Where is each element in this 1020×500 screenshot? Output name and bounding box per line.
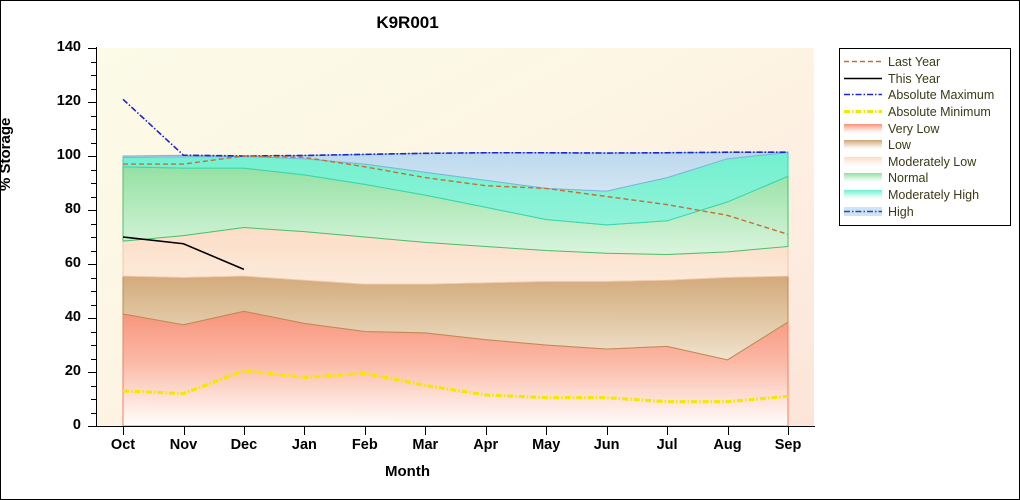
legend-item[interactable]: Low	[844, 137, 1006, 154]
x-tick	[607, 427, 608, 435]
legend-item[interactable]: High	[844, 203, 1006, 220]
y-tick-label: 80	[35, 201, 81, 217]
y-tick-label: 60	[35, 255, 81, 271]
chart-figure: K9R001	[0, 0, 1020, 500]
y-tick-label: 40	[35, 309, 81, 325]
y-tick-minor	[91, 183, 97, 184]
legend-label: Low	[888, 138, 911, 152]
y-tick-minor	[91, 305, 97, 306]
y-tick-minor	[91, 386, 97, 387]
x-tick	[304, 427, 305, 435]
legend-item[interactable]: Moderately Low	[844, 154, 1006, 171]
page-title: K9R001	[1, 13, 814, 33]
y-tick-minor	[91, 197, 97, 198]
y-tick-minor	[91, 116, 97, 117]
legend-item[interactable]: Very Low	[844, 120, 1006, 137]
x-axis-line	[96, 426, 815, 427]
legend-label: This Year	[888, 72, 940, 86]
legend-label: Moderately Low	[888, 155, 976, 169]
x-tick	[546, 427, 547, 435]
x-axis-label: Month	[1, 463, 814, 480]
legend-label: Very Low	[888, 122, 939, 136]
band-layer	[123, 152, 788, 426]
legend-item[interactable]: Last Year	[844, 54, 1006, 71]
y-tick-label: 0	[35, 417, 81, 433]
legend-swatch-icon	[844, 189, 882, 201]
line-absolute-maximum	[123, 99, 788, 156]
y-tick-minor	[91, 129, 97, 130]
chart-legend: Last YearThis YearAbsolute MaximumAbsolu…	[839, 48, 1011, 226]
y-tick-major	[88, 372, 97, 373]
chart-svg	[97, 48, 814, 426]
y-tick-minor	[91, 89, 97, 90]
x-tick	[365, 427, 366, 435]
legend-swatch-icon	[844, 172, 882, 184]
y-tick-minor	[91, 399, 97, 400]
y-tick-label: 120	[35, 93, 81, 109]
y-tick-minor	[91, 251, 97, 252]
legend-swatch-icon	[844, 206, 882, 218]
x-tick-label: Dec	[231, 437, 258, 453]
x-tick-label: Jul	[657, 437, 678, 453]
legend-swatch-icon	[844, 139, 882, 151]
x-tick	[788, 427, 789, 435]
x-tick-label: Jun	[594, 437, 620, 453]
legend-swatch-icon	[844, 73, 882, 85]
y-tick-major	[88, 48, 97, 49]
x-tick	[486, 427, 487, 435]
legend-label: Normal	[888, 171, 928, 185]
y-tick-major	[88, 156, 97, 157]
x-tick	[728, 427, 729, 435]
y-tick-label: 140	[35, 39, 81, 55]
legend-label: Last Year	[888, 55, 940, 69]
legend-swatch-icon	[844, 123, 882, 135]
x-tick-label: Jan	[292, 437, 317, 453]
y-tick-minor	[91, 359, 97, 360]
legend-item[interactable]: Absolute Maximum	[844, 87, 1006, 104]
legend-item[interactable]: Normal	[844, 170, 1006, 187]
x-tick-label: Oct	[111, 437, 135, 453]
y-tick-major	[88, 102, 97, 103]
y-tick-minor	[91, 237, 97, 238]
legend-item[interactable]: This Year	[844, 71, 1006, 88]
legend-swatch-icon	[844, 89, 882, 101]
y-tick-minor	[91, 170, 97, 171]
plot-area	[97, 48, 814, 426]
y-tick-minor	[91, 332, 97, 333]
y-tick-major	[88, 210, 97, 211]
x-tick-label: Sep	[775, 437, 802, 453]
y-tick-label: 100	[35, 147, 81, 163]
legend-swatch-icon	[844, 56, 882, 68]
x-tick-label: Mar	[412, 437, 438, 453]
legend-swatch-icon	[844, 156, 882, 168]
y-tick-minor	[91, 291, 97, 292]
y-tick-minor	[91, 62, 97, 63]
x-tick	[244, 427, 245, 435]
legend-item[interactable]: Absolute Minimum	[844, 104, 1006, 121]
x-tick	[425, 427, 426, 435]
y-tick-major	[88, 264, 97, 265]
y-tick-minor	[91, 413, 97, 414]
legend-label: Absolute Maximum	[888, 88, 994, 102]
x-tick	[123, 427, 124, 435]
legend-label: High	[888, 205, 914, 219]
x-tick-label: Aug	[713, 437, 741, 453]
legend-label: Moderately High	[888, 188, 979, 202]
y-axis-label: % Storage	[0, 118, 14, 191]
y-tick-minor	[91, 75, 97, 76]
legend-item[interactable]: Moderately High	[844, 187, 1006, 204]
x-tick	[667, 427, 668, 435]
x-tick-label: Nov	[170, 437, 197, 453]
x-tick-label: May	[532, 437, 560, 453]
y-tick-minor	[91, 224, 97, 225]
x-tick-label: Apr	[473, 437, 498, 453]
legend-swatch-icon	[844, 106, 882, 118]
y-tick-label: 20	[35, 363, 81, 379]
y-tick-minor	[91, 278, 97, 279]
y-tick-minor	[91, 345, 97, 346]
y-tick-major	[88, 318, 97, 319]
x-tick-label: Feb	[352, 437, 378, 453]
y-tick-major	[88, 426, 97, 427]
x-tick	[184, 427, 185, 435]
legend-label: Absolute Minimum	[888, 105, 991, 119]
y-tick-minor	[91, 143, 97, 144]
